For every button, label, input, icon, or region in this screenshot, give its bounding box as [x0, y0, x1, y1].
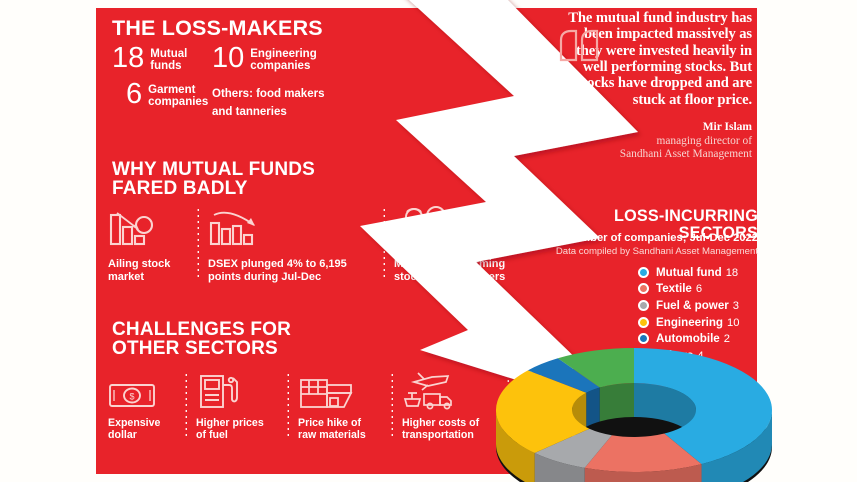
- loss-makers-item-engineering: 10 Engineering companies: [212, 45, 362, 73]
- challenge-item-label: Higher costs of transportation: [402, 417, 496, 441]
- legend-label: Textile6: [656, 282, 702, 295]
- legend-item: Textile6: [638, 281, 758, 298]
- challenge-item-expensive-dollar: $ Expensive dollar: [108, 372, 183, 441]
- loss-makers-others-note-wrap: Others: food makers and tanneries: [212, 81, 392, 120]
- loss-makers-row-2: 6 Garment companies Others: food makers …: [112, 81, 432, 120]
- infographic-canvas: THE LOSS-MAKERS 18 Mutual funds 10 Engin…: [0, 0, 857, 482]
- loss-makers-row-1: 18 Mutual funds 10 Engineering companies: [112, 45, 432, 73]
- loss-incurring-subtitle: Number of companies; Jul-Dec 2022: [532, 232, 758, 244]
- quote-author: Mir Islam: [556, 121, 752, 135]
- legend-item: Fuel & power3: [638, 297, 758, 314]
- dotted-divider: [185, 372, 187, 440]
- why-mutual-funds-heading: WHY MUTUAL FUNDS FARED BADLY: [112, 160, 315, 199]
- dollar-banknote-icon: $: [108, 372, 174, 410]
- legend-value: 18: [726, 267, 738, 279]
- challenges-heading: CHALLENGES FOR OTHER SECTORS: [112, 320, 291, 359]
- donut-inner-wall-segment: [600, 383, 634, 421]
- loss-makers-others-note: Others: food makers and tanneries: [212, 88, 324, 118]
- loss-makers-item-garment: 6 Garment companies: [112, 81, 212, 120]
- plane-ship-truck-icon: [402, 372, 496, 410]
- declining-index-arrow-icon: [208, 205, 370, 251]
- legend-label: Mutual fund18: [656, 266, 738, 279]
- legend-color-dot: [638, 283, 649, 294]
- dotted-divider: [391, 372, 393, 440]
- why-item-lacked-buyers: Most well-performing stocks lacked buyer…: [380, 205, 534, 283]
- quote-role-line-1: managing director of: [556, 135, 752, 148]
- legend-value: 10: [727, 317, 739, 329]
- factory-warehouse-icon: [298, 372, 380, 410]
- why-item-ailing-stock-market: Ailing stock market: [108, 205, 194, 283]
- legend-item: Mutual fund18: [638, 264, 758, 281]
- loss-makers-item-mutual-funds: 18 Mutual funds: [112, 45, 212, 73]
- quotation-mark-icon: [558, 28, 602, 62]
- pull-quote: The mutual fund industry has been impact…: [556, 10, 752, 162]
- why-item-label: DSEX plunged 4% to 6,195 points during J…: [208, 258, 370, 283]
- quote-role-line-2: Sandhani Asset Management: [556, 148, 752, 161]
- loss-makers-label: Garment companies: [148, 81, 208, 109]
- loss-makers-grid: 18 Mutual funds 10 Engineering companies…: [112, 45, 432, 124]
- person-rejected-icon: [394, 205, 524, 251]
- legend-item: Engineering10: [638, 314, 758, 331]
- falling-bar-chart-icon: [108, 205, 184, 251]
- legend-label: Engineering10: [656, 316, 739, 329]
- legend-value: 6: [696, 283, 702, 295]
- challenge-item-label: Price hike of raw materials: [298, 417, 380, 441]
- dotted-divider: [287, 372, 289, 440]
- challenge-item-label: Expensive dollar: [108, 417, 174, 441]
- loss-makers-heading: THE LOSS-MAKERS: [112, 18, 323, 40]
- loss-makers-number: 10: [212, 45, 244, 73]
- loss-makers-label: Mutual funds: [150, 45, 187, 73]
- challenge-item-label: Higher prices of fuel: [196, 417, 276, 441]
- svg-text:$: $: [129, 392, 134, 402]
- legend-color-dot: [638, 267, 649, 278]
- fuel-pump-icon: [196, 372, 276, 410]
- dotted-divider: [197, 207, 199, 279]
- loss-makers-number: 18: [112, 45, 144, 73]
- loss-makers-number: 6: [126, 81, 142, 109]
- why-item-label: Ailing stock market: [108, 258, 184, 283]
- dotted-divider: [383, 207, 385, 279]
- why-item-label: Most well-performing stocks lacked buyer…: [394, 258, 524, 283]
- legend-color-dot: [638, 317, 649, 328]
- why-item-dsex-plunge: DSEX plunged 4% to 6,195 points during J…: [194, 205, 380, 283]
- donut-inner-wall-segment: [586, 387, 599, 426]
- loss-incurring-source: Data compiled by Sandhani Asset Manageme…: [512, 246, 758, 257]
- challenge-item-raw-materials: Price hike of raw materials: [285, 372, 389, 441]
- loss-makers-label: Engineering companies: [250, 45, 316, 73]
- donut-chart: [484, 336, 784, 482]
- legend-label: Fuel & power3: [656, 299, 739, 312]
- why-mutual-funds-items: Ailing stock market DSEX plunged 4% to 6…: [108, 205, 534, 283]
- legend-value: 3: [733, 300, 739, 312]
- legend-color-dot: [638, 300, 649, 311]
- challenge-item-higher-fuel: Higher prices of fuel: [183, 372, 285, 441]
